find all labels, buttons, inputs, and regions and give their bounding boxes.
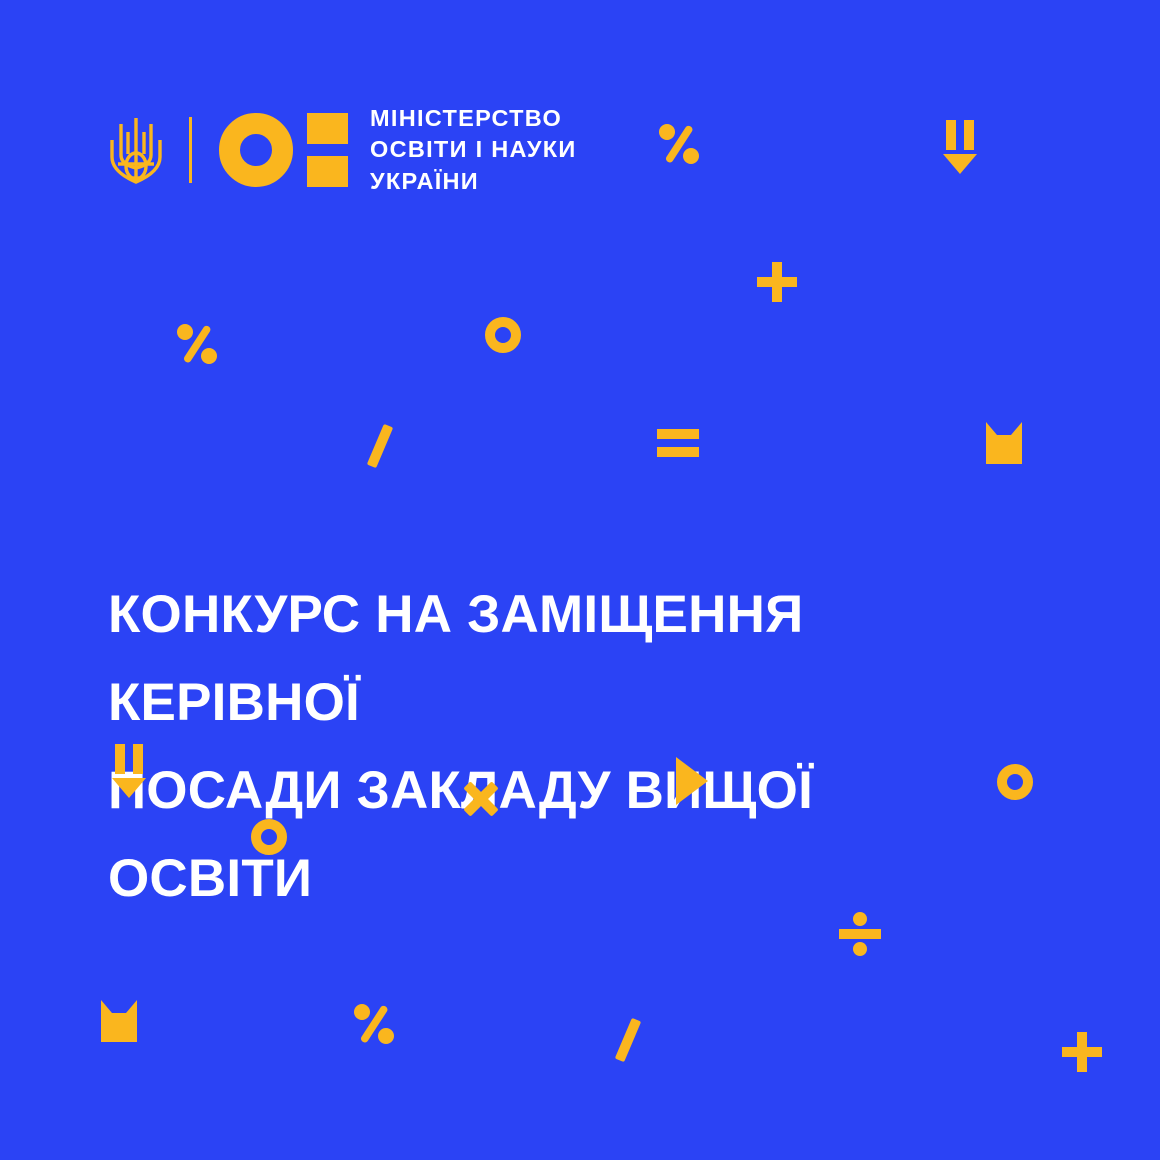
logo-divider <box>189 117 192 183</box>
poster-canvas: МІНІСТЕРСТВО ОСВІТИ І НАУКИ УКРАЇНИ КОНК… <box>0 0 1160 1160</box>
mon-equals-shape <box>307 113 348 187</box>
mon-equals-bar-bottom <box>307 156 348 187</box>
pencil-down-icon <box>110 744 148 798</box>
play-triangle-icon <box>676 757 708 805</box>
circle-ring-icon <box>250 818 288 856</box>
mon-ring-shape <box>219 113 293 187</box>
multiply-icon <box>461 779 501 819</box>
percent-icon <box>657 122 701 166</box>
bookmark-down-icon <box>101 1000 137 1042</box>
page-title: КОНКУРС НА ЗАМІЩЕННЯ КЕРІВНОЇ ПОСАДИ ЗАК… <box>108 571 1028 923</box>
mon-equals-bar-top <box>307 113 348 144</box>
percent-icon <box>175 322 219 366</box>
circle-ring-icon <box>996 763 1034 801</box>
bookmark-down-icon <box>986 422 1022 464</box>
slash-icon <box>361 424 399 468</box>
slash-icon <box>609 1018 647 1062</box>
divide-icon <box>839 912 881 956</box>
ukraine-trident-emblem-icon <box>108 110 164 190</box>
plus-icon <box>1062 1032 1102 1072</box>
pencil-down-icon <box>941 120 979 174</box>
ministry-name-text: МІНІСТЕРСТВО ОСВІТИ І НАУКИ УКРАЇНИ <box>370 103 577 197</box>
percent-icon <box>352 1002 396 1046</box>
ministry-logo-lockup[interactable]: МІНІСТЕРСТВО ОСВІТИ І НАУКИ УКРАЇНИ <box>108 104 577 196</box>
equals-icon <box>657 428 699 458</box>
mon-o-equals-mark-icon <box>219 112 348 188</box>
circle-ring-icon <box>484 316 522 354</box>
plus-icon <box>757 262 797 302</box>
